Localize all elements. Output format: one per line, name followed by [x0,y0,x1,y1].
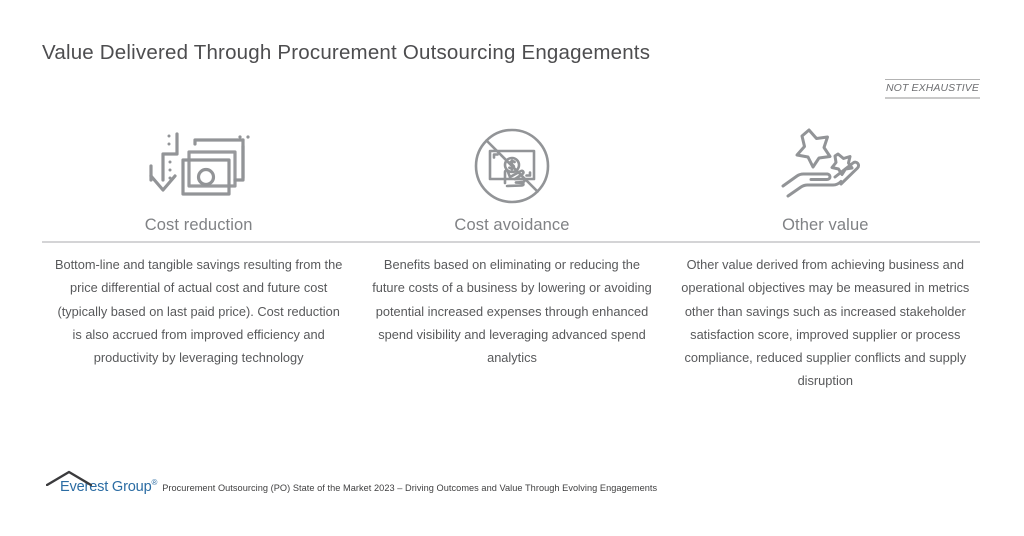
description-text: Bottom-line and tangible savings resulti… [53,253,345,369]
column-heading: Cost reduction [145,216,253,235]
column-heading: Other value [782,216,868,235]
description-cost-reduction: Bottom-line and tangible savings resulti… [42,253,355,369]
no-money-prohibited-icon [467,126,557,206]
slide-footer: Everest Group® Procurement Outsourcing (… [46,479,657,494]
column-heading: Cost avoidance [454,216,569,235]
description-other-value: Other value derived from achieving busin… [669,253,982,393]
value-column-cost-reduction: Cost reduction [42,126,355,235]
money-decrease-icon [143,126,255,206]
description-text: Benefits based on eliminating or reducin… [369,253,654,369]
value-columns: Cost reduction [42,126,982,235]
page-title: Value Delivered Through Procurement Outs… [42,41,650,65]
registered-mark: ® [152,478,158,487]
mountain-peak-icon [46,470,92,491]
value-column-cost-avoidance: Cost avoidance [355,126,668,235]
not-exhaustive-badge: NOT EXHAUSTIVE [885,79,980,99]
everest-group-logo: Everest Group® [46,479,157,494]
slide-canvas: Value Delivered Through Procurement Outs… [0,0,1024,536]
source-caption: Procurement Outsourcing (PO) State of th… [162,484,657,494]
header-divider [42,241,980,243]
description-cost-avoidance: Benefits based on eliminating or reducin… [355,253,668,369]
value-descriptions: Bottom-line and tangible savings resulti… [42,253,982,393]
description-text: Other value derived from achieving busin… [675,253,975,393]
value-column-other-value: Other value [669,126,982,235]
hand-sparkle-icon [775,126,875,206]
